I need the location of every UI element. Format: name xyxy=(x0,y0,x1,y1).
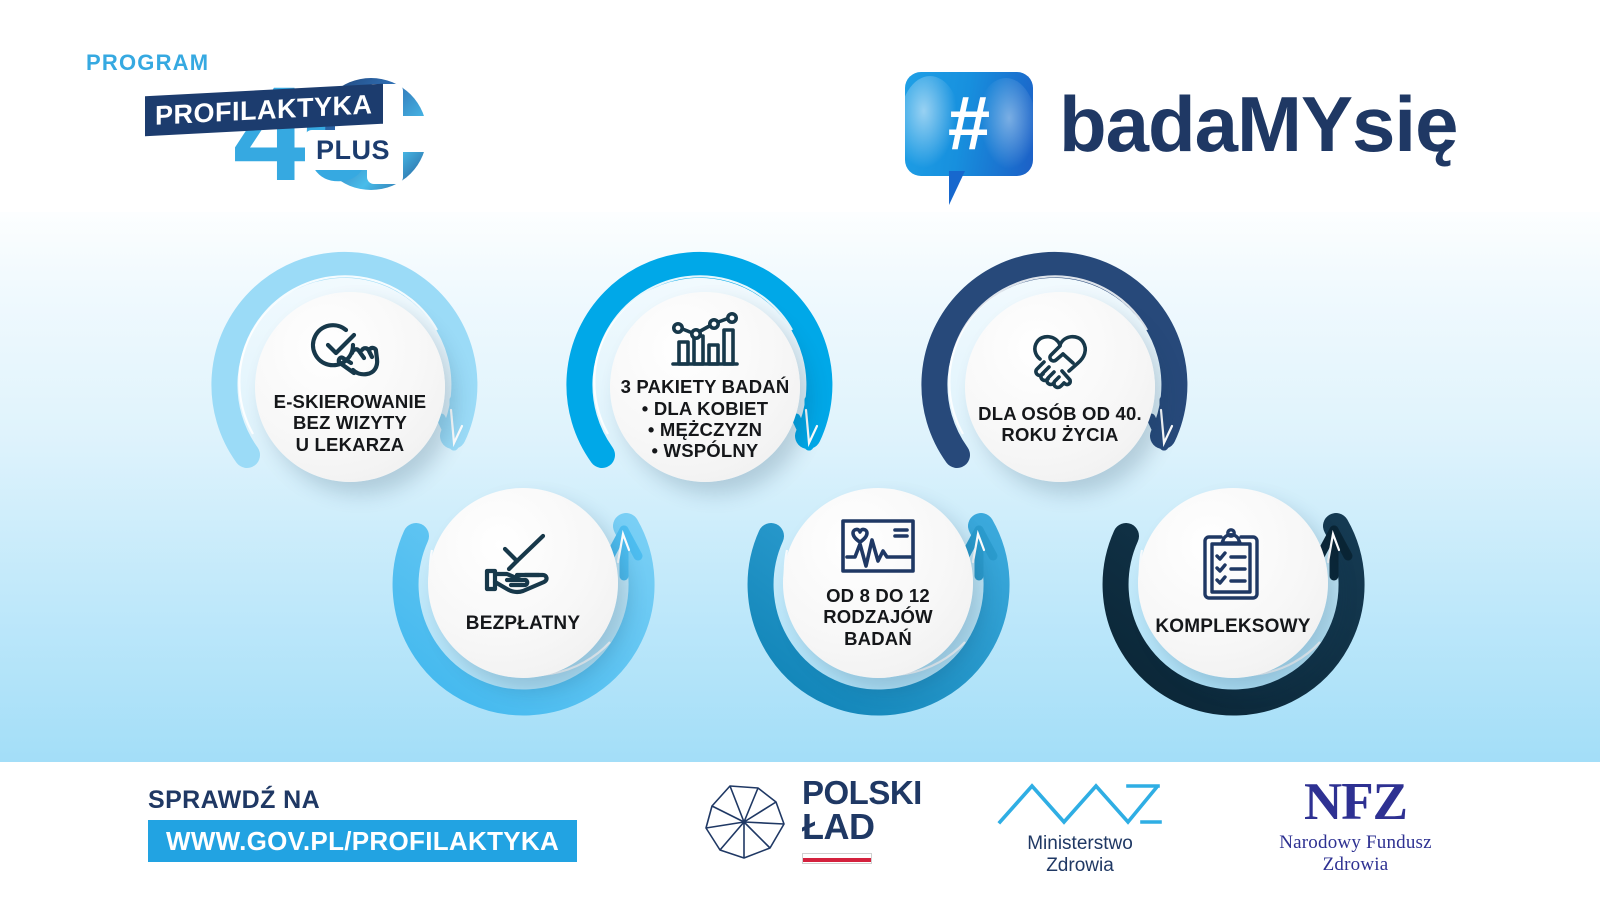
bar-chart-icon xyxy=(667,312,743,370)
bubble-tail-shape xyxy=(949,171,965,205)
caption-line: BEZPŁATNY xyxy=(466,613,580,635)
mz-mark-icon xyxy=(996,780,1164,826)
nfz-letters: NFZ xyxy=(1304,773,1407,831)
poland-flag-icon xyxy=(802,853,872,864)
logo-ribbon-label: PROFILAKTYKA xyxy=(155,89,373,131)
node-kompleksowy[interactable]: KOMPLEKSOWY xyxy=(1090,440,1376,726)
hash-icon: # xyxy=(905,72,1033,176)
nfz-mark: NFZ xyxy=(1248,776,1463,829)
badamysie-logo: # badaMYsię xyxy=(905,72,1457,176)
bullet-text: MĘŻCZYZN xyxy=(660,419,762,440)
disc-kompleksowy[interactable]: KOMPLEKSOWY xyxy=(1138,488,1328,678)
caption-bezplatny: BEZPŁATNY xyxy=(466,613,580,635)
ministerstwo-zdrowia-logo: Ministerstwo Zdrowia xyxy=(995,780,1165,877)
speech-bubble-icon: # xyxy=(905,72,1033,176)
clipboard-checklist-icon xyxy=(1200,528,1266,602)
polski-lad-logo: POLSKI ŁAD xyxy=(700,776,922,864)
caption-od-8-do-12: OD 8 DO 12 RODZAJÓW BADAŃ xyxy=(823,585,933,649)
header: PROGRAM 40 PROFILAKTYKA PLUS # badaMYsię xyxy=(0,0,1600,212)
caption-bullet: • MĘŻCZYZN xyxy=(621,419,790,440)
heart-monitor-icon xyxy=(839,517,917,575)
url-button[interactable]: WWW.GOV.PL/PROFILAKTYKA xyxy=(148,820,577,862)
caption-line: RODZAJÓW xyxy=(823,606,933,627)
polski-label: POLSKI xyxy=(802,776,922,809)
bullet-text: DLA KOBIET xyxy=(654,398,768,419)
ministerstwo-zdrowia-caption: Ministerstwo Zdrowia xyxy=(995,833,1165,877)
badamysie-wordmark: badaMYsię xyxy=(1059,85,1457,163)
handshake-heart-icon xyxy=(1020,329,1100,391)
caption-line: BADAŃ xyxy=(823,628,933,649)
lad-label: ŁAD xyxy=(802,809,922,845)
sprawdz-na-label: SPRAWDŹ NA xyxy=(148,786,320,815)
profilaktyka-40-plus-logo: 40 PROFILAKTYKA PLUS xyxy=(145,72,435,197)
polski-lad-wordmark: POLSKI ŁAD xyxy=(802,776,922,849)
caption-bullet: • DLA KOBIET xyxy=(621,398,790,419)
click-check-icon xyxy=(308,319,392,383)
caption-line: DLA OSÓB OD 40. xyxy=(978,403,1142,424)
caption-line: E-SKIEROWANIE xyxy=(274,391,427,412)
poland-map-icon xyxy=(700,778,792,864)
url-label: WWW.GOV.PL/PROFILAKTYKA xyxy=(166,826,559,857)
caption-kompleksowy: KOMPLEKSOWY xyxy=(1155,616,1310,638)
caption-line: OD 8 DO 12 xyxy=(823,585,933,606)
hand-check-icon xyxy=(479,531,567,597)
nfz-logo: NFZ Narodowy Fundusz Zdrowia xyxy=(1248,776,1463,876)
infographic-root: PROGRAM 40 PROFILAKTYKA PLUS # badaMYsię xyxy=(0,0,1600,900)
logo-plus-box: PLUS xyxy=(305,130,401,170)
caption-line: 3 PAKIETY BADAŃ xyxy=(621,376,790,397)
nfz-caption: Narodowy Fundusz Zdrowia xyxy=(1248,832,1463,876)
caption-line: BEZ WIZYTY xyxy=(274,412,427,433)
logo-plus-label: PLUS xyxy=(316,135,390,166)
caption-line: KOMPLEKSOWY xyxy=(1155,616,1310,638)
footer: SPRAWDŹ NA WWW.GOV.PL/PROFILAKTYKA POLSK… xyxy=(0,762,1600,900)
